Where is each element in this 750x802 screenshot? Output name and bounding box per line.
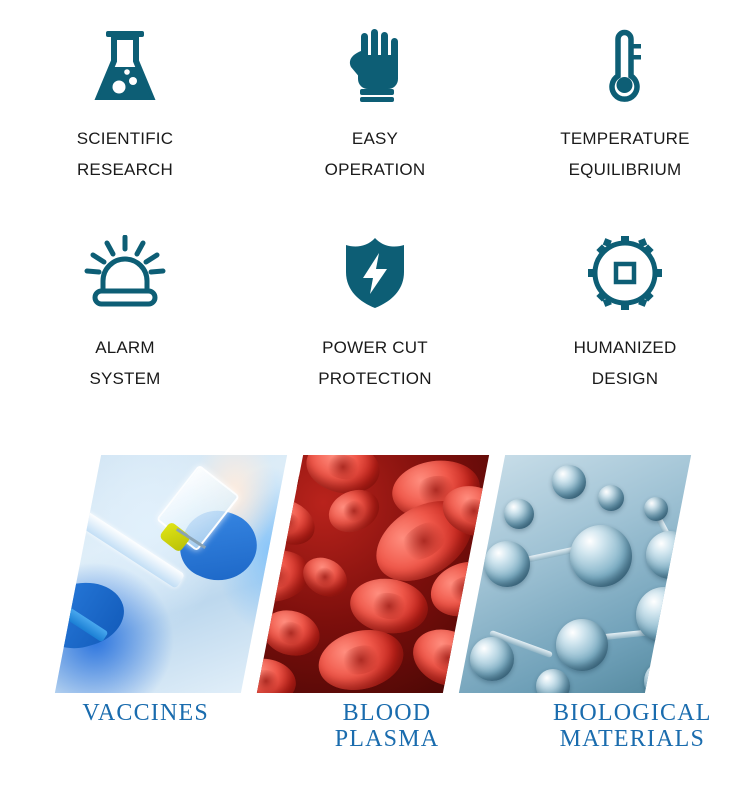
feature-label: SCIENTIFIC RESEARCH — [77, 124, 173, 185]
molecule-atom — [598, 485, 624, 511]
molecule-atom — [556, 619, 608, 671]
feature-temperature-equilibrium: TEMPERATURE EQUILIBRIUM — [500, 22, 750, 185]
feature-label-line2: EQUILIBRIUM — [560, 155, 689, 186]
thermometer-icon — [598, 22, 652, 110]
shield-bolt-icon — [343, 227, 407, 319]
gallery-panel-blood-plasma — [257, 455, 489, 693]
flask-icon — [89, 22, 161, 110]
feature-label: HUMANIZED DESIGN — [574, 333, 677, 394]
feature-label-line2: SYSTEM — [89, 364, 160, 395]
caption-line2: MATERIALS — [515, 726, 750, 752]
molecule-atom — [484, 541, 530, 587]
feature-label: EASY OPERATION — [325, 124, 426, 185]
feature-easy-operation: EASY OPERATION — [250, 22, 500, 185]
feature-row-2: ALARM SYSTEM POWER CUT PROTECTION — [0, 227, 750, 394]
gallery-panel-vaccines — [55, 455, 287, 693]
molecule-atom — [552, 465, 586, 499]
molecule-atom — [636, 587, 691, 643]
vaccine-photo-art — [55, 455, 287, 693]
product-application-gallery — [0, 455, 750, 700]
molecular-structure-photo — [459, 455, 691, 693]
feature-power-cut-protection: POWER CUT PROTECTION — [250, 227, 500, 394]
molecule-atom — [644, 497, 668, 521]
molecule-atom — [646, 531, 691, 579]
alarm-siren-icon — [82, 227, 168, 319]
red-blood-cell — [257, 604, 325, 662]
molecule-atom — [470, 637, 514, 681]
feature-label-line2: DESIGN — [574, 364, 677, 395]
caption-line1: VACCINES — [82, 700, 209, 726]
red-blood-cell — [257, 654, 299, 693]
feature-label: TEMPERATURE EQUILIBRIUM — [560, 124, 689, 185]
feature-label-line1: HUMANIZED — [574, 338, 677, 357]
gloved-hand-left — [55, 571, 132, 658]
molecule-atom — [504, 499, 534, 529]
molecular-bond — [680, 626, 691, 682]
feature-label-line1: EASY — [352, 129, 398, 148]
feature-scientific-research: SCIENTIFIC RESEARCH — [0, 22, 250, 185]
gallery-panel-biological-materials — [459, 455, 691, 693]
red-blood-cells-photo — [257, 455, 489, 693]
gallery-captions: VACCINES BLOOD PLASMA BIOLOGICAL MATERIA… — [0, 700, 750, 753]
red-blood-cell — [347, 574, 432, 638]
feature-grid: SCIENTIFIC RESEARCH — [0, 0, 750, 394]
feature-alarm-system: ALARM SYSTEM — [0, 227, 250, 394]
molecule-atom — [570, 525, 632, 587]
feature-label-line2: RESEARCH — [77, 155, 173, 186]
feature-label-line1: TEMPERATURE — [560, 129, 689, 148]
feature-label-line1: SCIENTIFIC — [77, 129, 173, 148]
caption-line1: BLOOD — [343, 700, 432, 726]
caption-blood-plasma: BLOOD PLASMA — [263, 700, 504, 753]
molecule-atom — [644, 661, 684, 693]
feature-label: POWER CUT PROTECTION — [318, 333, 431, 394]
caption-line2: PLASMA — [269, 726, 504, 752]
red-blood-cell — [296, 550, 354, 604]
vaccine-syringe-photo — [55, 455, 287, 693]
feature-label-line1: ALARM — [95, 338, 155, 357]
caption-vaccines: VACCINES — [0, 700, 263, 753]
blood-photo-art — [257, 455, 489, 693]
hand-icon — [344, 22, 406, 110]
gear-square-icon — [587, 227, 663, 319]
feature-label: ALARM SYSTEM — [89, 333, 160, 394]
feature-label-line2: OPERATION — [325, 155, 426, 186]
feature-label-line2: PROTECTION — [318, 364, 431, 395]
feature-humanized-design: HUMANIZED DESIGN — [500, 227, 750, 394]
feature-row-1: SCIENTIFIC RESEARCH — [0, 22, 750, 185]
caption-biological-materials: BIOLOGICAL MATERIALS — [505, 700, 750, 753]
feature-label-line1: POWER CUT — [322, 338, 428, 357]
caption-line1: BIOLOGICAL — [553, 700, 712, 726]
molecule-photo-art — [459, 455, 691, 693]
molecule-atom — [536, 669, 570, 693]
